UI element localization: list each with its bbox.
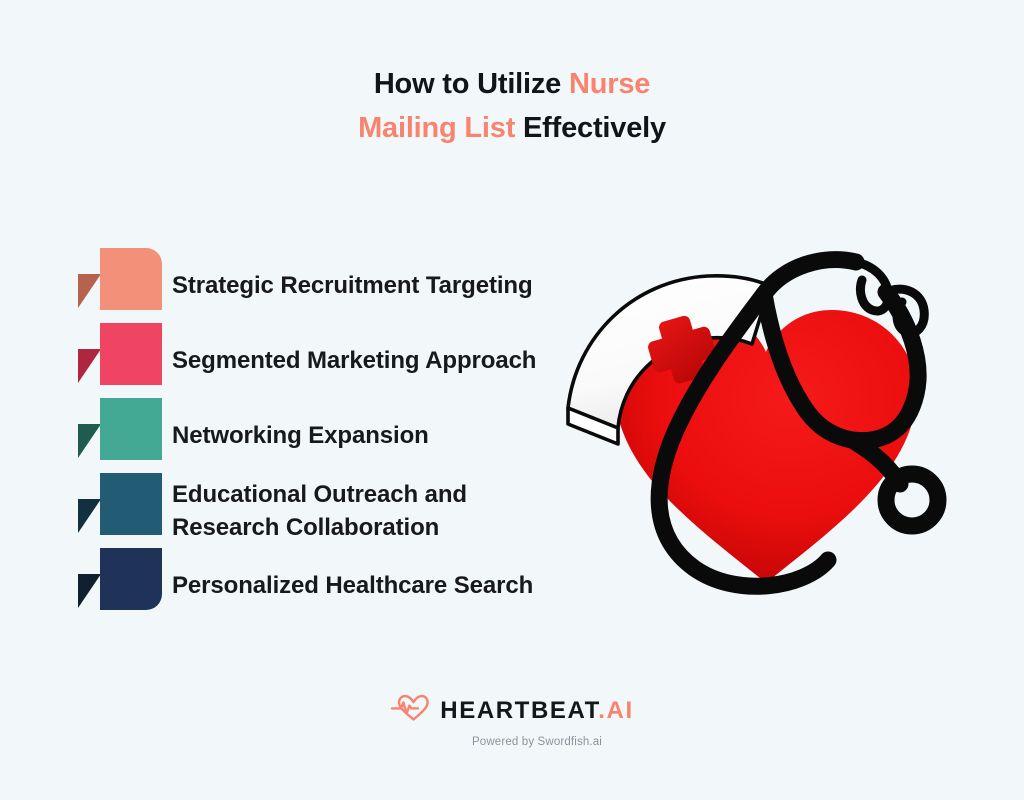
chip-swatch bbox=[100, 473, 162, 535]
logo-row: HEARTBEAT.AI bbox=[390, 692, 633, 729]
title-line-1-plain: How to Utilize bbox=[374, 68, 569, 100]
logo-wordmark-text: HEARTBEAT bbox=[440, 697, 598, 724]
list-item[interactable]: Strategic Recruitment Targeting bbox=[78, 248, 598, 323]
page-title: How to Utilize Nurse Mailing List Effect… bbox=[0, 62, 1024, 150]
chip-swatch bbox=[100, 548, 162, 610]
logo-wordmark: HEARTBEAT.AI bbox=[440, 699, 633, 723]
list-item-marker bbox=[78, 398, 162, 473]
list-item-marker bbox=[78, 248, 162, 323]
chip-swatch bbox=[100, 248, 162, 310]
chip-fold-triangle-icon bbox=[78, 274, 101, 308]
nurse-heart-stethoscope-illustration bbox=[556, 248, 976, 613]
infographic-canvas: How to Utilize Nurse Mailing List Effect… bbox=[0, 0, 1024, 800]
title-line-2-plain: Effectively bbox=[515, 112, 666, 144]
list-item-marker bbox=[78, 473, 162, 548]
chip-fold-triangle-icon bbox=[78, 349, 101, 383]
title-line-1-accent: Nurse bbox=[569, 68, 650, 100]
logo-suffix: .AI bbox=[598, 697, 633, 724]
heartbeat-pulse-icon bbox=[390, 692, 430, 729]
title-line-2-accent: Mailing List bbox=[358, 112, 515, 144]
title-line-2: Mailing List Effectively bbox=[0, 106, 1024, 150]
brand-logo: HEARTBEAT.AI Powered by Swordfish.ai bbox=[0, 692, 1024, 748]
list-item-label: Strategic Recruitment Targeting bbox=[162, 269, 533, 302]
list-item-marker bbox=[78, 548, 162, 623]
list-item-label: Segmented Marketing Approach bbox=[162, 344, 536, 377]
list-item-label: Educational Outreach and Research Collab… bbox=[162, 478, 467, 544]
feature-list: Strategic Recruitment TargetingSegmented… bbox=[78, 248, 598, 623]
title-line-1: How to Utilize Nurse bbox=[0, 62, 1024, 106]
list-item[interactable]: Educational Outreach and Research Collab… bbox=[78, 473, 598, 548]
chip-swatch bbox=[100, 323, 162, 385]
chip-swatch bbox=[100, 398, 162, 460]
list-item-label: Personalized Healthcare Search bbox=[162, 569, 533, 602]
list-item-label: Networking Expansion bbox=[162, 419, 429, 452]
chip-fold-triangle-icon bbox=[78, 424, 101, 458]
list-item[interactable]: Personalized Healthcare Search bbox=[78, 548, 598, 623]
list-item[interactable]: Segmented Marketing Approach bbox=[78, 323, 598, 398]
chip-fold-triangle-icon bbox=[78, 574, 101, 608]
stethoscope-chestpiece bbox=[886, 474, 938, 526]
list-item-marker bbox=[78, 323, 162, 398]
logo-tagline: Powered by Swordfish.ai bbox=[0, 736, 1024, 748]
list-item[interactable]: Networking Expansion bbox=[78, 398, 598, 473]
chip-fold-triangle-icon bbox=[78, 499, 101, 533]
